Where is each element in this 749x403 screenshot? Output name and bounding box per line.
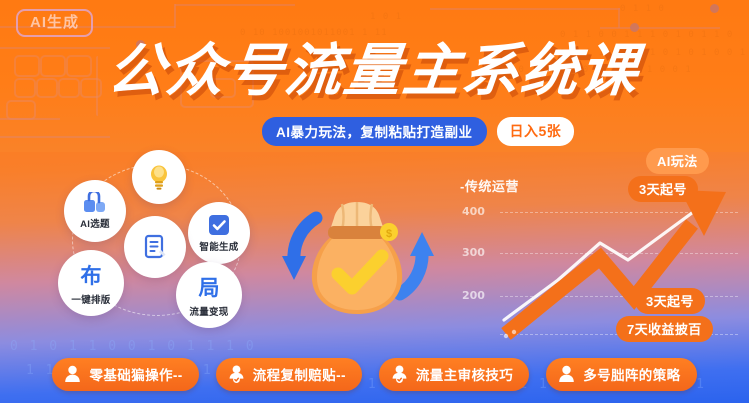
feature-pill[interactable]: 零基础猵操作--	[52, 358, 198, 391]
cluster-node-monetize-label: 流量变现	[189, 304, 228, 318]
feature-cluster: AI选题 智能生成 布 一键排版 局 流量变现	[36, 150, 286, 335]
feature-pill[interactable]: 多号朏阵的策略	[546, 358, 696, 391]
subtitle-tag-badge: 日入5张	[497, 117, 575, 146]
person-check-icon	[228, 365, 245, 383]
cluster-node-document	[124, 216, 186, 278]
cluster-node-monetize: 局 流量变现	[176, 262, 242, 328]
feature-pill-row: 零基础猵操作-- 流程复制赔贴-- 流量主审核技巧	[0, 358, 749, 391]
person-icon	[558, 365, 575, 383]
svg-text:$: $	[386, 228, 392, 240]
cluster-node-layout-label: 一键排版	[71, 292, 110, 306]
feature-pill-label: 流量主审核技巧	[416, 364, 513, 384]
poster-title: 公众号流量主系统课	[105, 40, 712, 102]
chart-badge-3day-top: 3天起号	[628, 176, 698, 202]
feature-pill[interactable]: 流量主审核技巧	[379, 358, 529, 391]
chart-plot-area	[448, 148, 749, 340]
cluster-node-layout-glyph: 布	[81, 260, 102, 290]
cluster-node-topic: AI选题	[64, 180, 126, 242]
chart-badge-3day-bottom: 3天起号	[635, 288, 705, 314]
subtitle-main-badge: AI暴力玩法，复制粘贴打造副业	[262, 117, 487, 146]
cluster-node-generate: 智能生成	[188, 202, 250, 264]
cluster-node-monetize-glyph: 局	[199, 272, 220, 302]
feature-pill-label: 流程复制赔贴--	[253, 364, 346, 384]
growth-chart: -传统运营 400 300 200 AI玩法 3天起号 3天起号 7天收益披百	[448, 148, 749, 340]
feature-pill[interactable]: 流程复制赔贴--	[216, 358, 362, 391]
person-icon	[64, 365, 81, 383]
document-edit-icon	[140, 232, 170, 262]
feature-pill-label: 零基础猵操作--	[89, 364, 182, 384]
chart-badge-ai-method: AI玩法	[646, 148, 709, 174]
cluster-node-idea	[132, 150, 186, 204]
subtitle-row: AI暴力玩法，复制粘贴打造副业 日入5张	[262, 117, 574, 146]
ai-generated-badge: AI生成	[16, 9, 93, 37]
ai-topic-icon	[82, 192, 108, 214]
cluster-node-topic-label: AI选题	[80, 216, 110, 230]
money-bag-illustration: $	[272, 182, 442, 330]
lightbulb-icon	[144, 162, 174, 192]
person-check-icon	[391, 365, 408, 383]
poster-root: 0 10 1001001011001 1 11 1 0 1 0 1 1 0 0 …	[0, 0, 749, 403]
feature-pill-label: 多号朏阵的策略	[583, 364, 680, 384]
money-bag-cycle-icon: $	[272, 182, 442, 330]
cluster-node-layout: 布 一键排版	[58, 250, 124, 316]
cluster-node-generate-label: 智能生成	[199, 239, 238, 253]
check-square-icon	[207, 213, 231, 237]
